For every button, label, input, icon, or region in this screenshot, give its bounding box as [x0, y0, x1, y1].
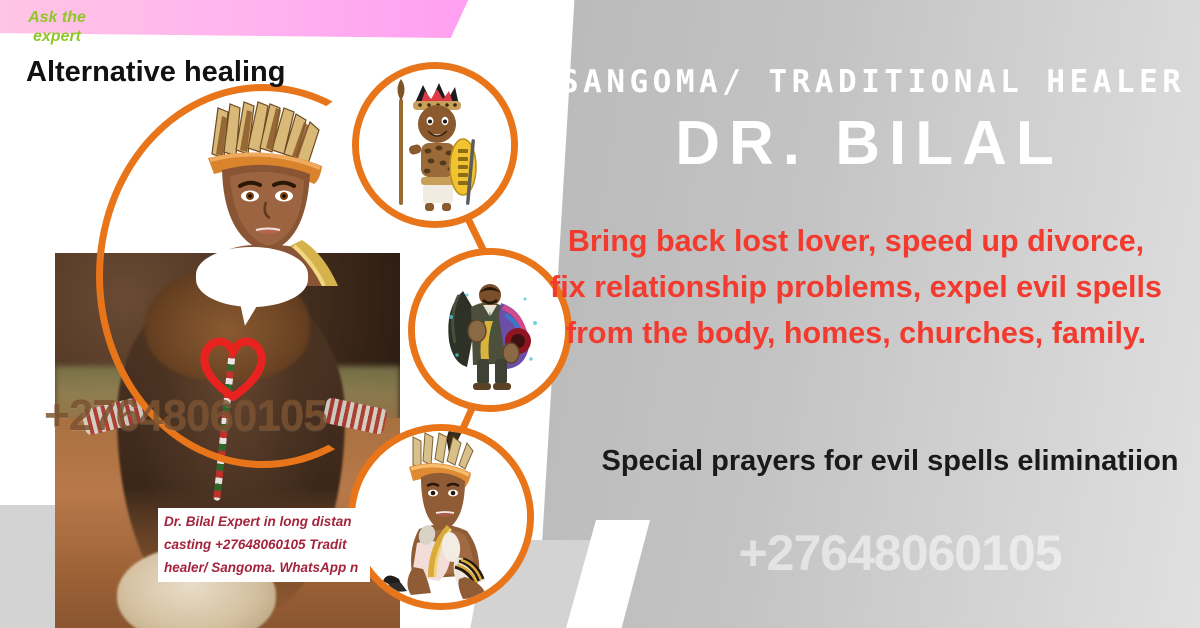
gray-slab-left-decoration	[0, 505, 58, 628]
special-prayers-text: Special prayers for evil spells eliminat…	[600, 440, 1180, 482]
caption-line-3: healer/ Sangoma. WhatsApp n	[158, 554, 370, 577]
caption-line-2: casting +27648060105 Tradit	[158, 531, 370, 554]
poster-canvas: Alternative healing	[0, 0, 1200, 628]
zulu-warrior-cartoon-icon	[352, 62, 518, 228]
alternative-healing-label: Alternative healing	[26, 56, 285, 89]
heart-outline-icon	[196, 335, 270, 401]
speech-bubble-text: Ask the expert	[12, 8, 102, 46]
headline-kicker: SANGOMA/ TRADITIONAL HEALER	[560, 64, 1178, 100]
speech-bubble-tail	[234, 294, 262, 327]
phone-number-ghost: +27648060105	[620, 524, 1180, 582]
photo-caption-box: Dr. Bilal Expert in long distan casting …	[158, 508, 370, 582]
photo-phone-watermark: +27648060105	[44, 391, 327, 441]
services-red-text: Bring back lost lover, speed up divorce,…	[546, 218, 1166, 356]
kneeling-sangoma-icon	[348, 424, 534, 610]
page-title: DR. BILAL	[560, 108, 1178, 179]
caption-line-1: Dr. Bilal Expert in long distan	[158, 508, 370, 531]
